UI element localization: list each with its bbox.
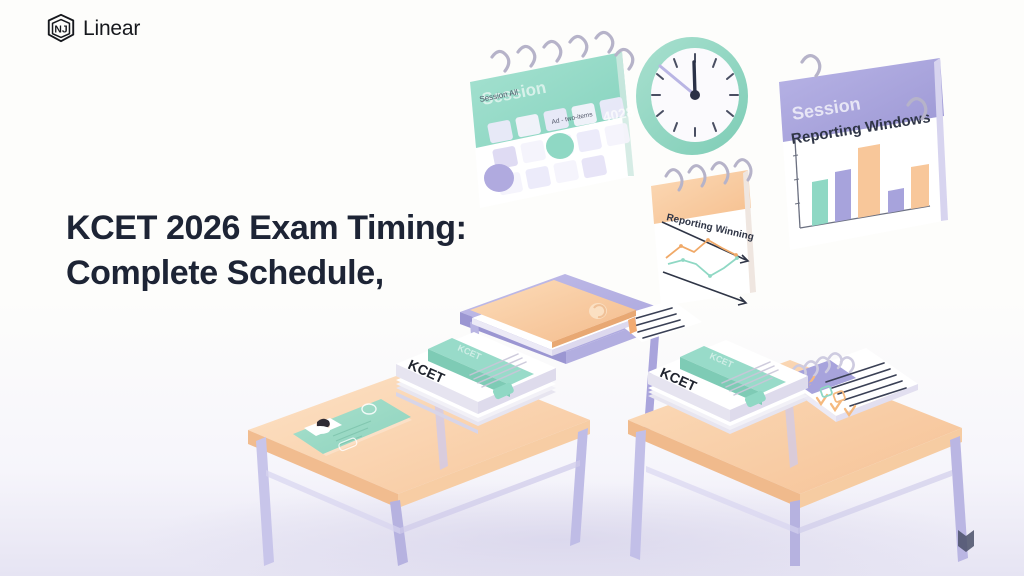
hero-banner: Session 4028 Session All Ad - two-items [0,0,1024,576]
headline-line-1: KCET 2026 Exam Timing: [66,209,467,247]
wall-clock [636,37,748,155]
session-calendar: Session 4028 Session All Ad - two-items [470,32,635,208]
reporting-window-notepad: Reporting Winning [651,160,756,306]
reporting-windows-panel: Session Reporting Windows [779,56,948,250]
calendar-highlight-mint [546,133,574,159]
page-title: KCET 2026 Exam Timing: Complete Schedule… [66,206,526,296]
brand-name: Linear [83,18,140,39]
calendar-highlight-purple [484,164,514,192]
brand-logo[interactable]: NJ Linear [45,12,140,44]
cube-logo-icon: NJ [45,12,77,44]
headline-line-2: Complete Schedule, [66,251,526,296]
svg-text:NJ: NJ [54,25,67,36]
